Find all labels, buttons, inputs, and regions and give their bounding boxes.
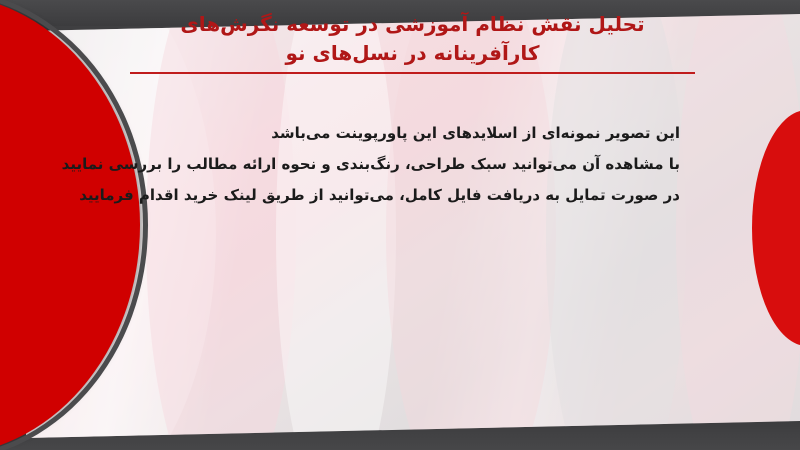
background-band — [146, 14, 296, 438]
slide-title-line-2: کارآفرینانه در نسل‌های نو — [130, 39, 695, 68]
slide-body-text: این تصویر نمونه‌ای از اسلایدهای این پاور… — [80, 118, 680, 211]
slide-body-line-2: با مشاهده آن می‌توانید سبک طراحی، رنگ‌بن… — [80, 149, 680, 180]
presentation-slide: تحلیل نقش نظام آموزشی در توسعه نگرش‌های … — [0, 0, 800, 450]
title-underline — [130, 72, 695, 74]
slide-body-line-3: در صورت تمایل به دریافت فایل کامل، می‌تو… — [80, 180, 680, 211]
slide-body-line-1: این تصویر نمونه‌ای از اسلایدهای این پاور… — [80, 118, 680, 149]
background-band — [546, 14, 686, 438]
slide-title-line-1: تحلیل نقش نظام آموزشی در توسعه نگرش‌های — [130, 10, 695, 39]
background-band — [386, 14, 556, 438]
slide-title: تحلیل نقش نظام آموزشی در توسعه نگرش‌های … — [130, 10, 695, 74]
background-band — [276, 14, 396, 438]
